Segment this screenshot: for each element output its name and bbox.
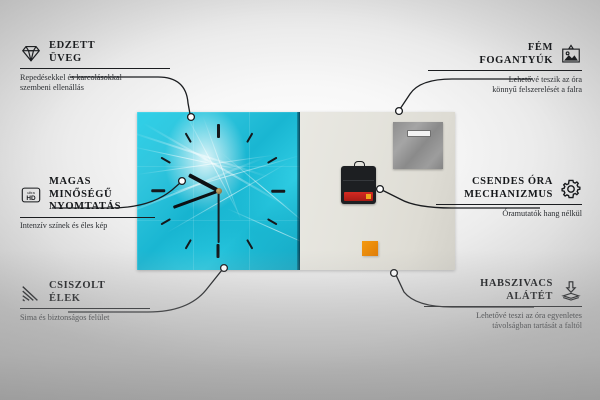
feature-divider: [20, 68, 170, 69]
metal-hanger-bracket: [393, 122, 443, 169]
foam-pad-icon: [560, 280, 582, 302]
feature-title: EDZETT ÜVEG: [49, 40, 95, 65]
feature-silent-movement: CSENDES ÓRA MECHANIZMUS Óramutatók hang …: [436, 176, 582, 219]
feature-title-line2: ÉLEK: [49, 293, 105, 306]
feature-title: FÉM FOGANTYÚK: [479, 42, 553, 67]
quartz-movement: [341, 166, 376, 204]
feature-title: CSISZOLT ÉLEK: [49, 280, 105, 305]
feature-description: Óramutatók hang nélkül: [436, 209, 582, 219]
feature-title-line1: CSENDES ÓRA: [464, 176, 553, 189]
polished-edge-icon: [20, 282, 42, 304]
feature-title: MAGAS MINŐSÉGŰ NYOMTATÁS: [49, 176, 155, 214]
feature-desc-line1: Lehetővé teszi az óra egyenletes: [424, 311, 582, 321]
clock-second-hand: [218, 191, 220, 243]
feature-title-line2: NYOMTATÁS: [49, 201, 155, 214]
feature-desc-line2: távolságban tartását a faltól: [424, 321, 582, 331]
clock-face-front: [137, 112, 300, 270]
clock-back-panel: [300, 112, 455, 270]
feature-title-line1: EDZETT: [49, 40, 95, 53]
feature-desc-line2: könnyű felszerelését a falra: [428, 85, 582, 95]
connector-dot-foam-pad: [391, 270, 398, 277]
feature-foam-pad: HABSZIVACS ALÁTÉT Lehetővé teszi az óra …: [424, 278, 582, 331]
feature-divider: [20, 308, 150, 309]
feature-title-line2: ÜVEG: [49, 53, 95, 66]
feature-title-line2: ALÁTÉT: [480, 291, 553, 304]
foam-pad: [362, 241, 378, 256]
feature-title: CSENDES ÓRA MECHANIZMUS: [464, 176, 553, 201]
svg-text:HD: HD: [26, 195, 36, 202]
feature-desc-line1: Intenzív színek és éles kép: [20, 221, 155, 231]
gear-icon: [560, 178, 582, 200]
feature-desc-line2: szembeni ellenállás: [20, 83, 170, 93]
feature-polished-edges: CSISZOLT ÉLEK Sima és biztonságos felüle…: [20, 280, 150, 323]
clock-tick: [217, 244, 220, 258]
product-image: [137, 112, 455, 270]
feature-divider: [20, 217, 155, 218]
feature-title-line2: FOGANTYÚK: [479, 55, 553, 68]
feature-description: Lehetővé teszi az óra egyenletes távolsá…: [424, 311, 582, 331]
feature-description: Repedésekkel és karcolásokkal szembeni e…: [20, 73, 170, 93]
feature-desc-line1: Óramutatók hang nélkül: [436, 209, 582, 219]
feature-high-quality-print: ultra HD MAGAS MINŐSÉGŰ NYOMTATÁS Intenz…: [20, 176, 155, 231]
feature-divider: [436, 204, 582, 205]
infographic-canvas: EDZETT ÜVEG Repedésekkel és karcolásokka…: [0, 0, 600, 400]
feature-metal-handles: FÉM FOGANTYÚK Lehetővé teszik az óra kön…: [428, 42, 582, 95]
feature-description: Intenzív színek és éles kép: [20, 221, 155, 231]
movement-shaft: [354, 161, 365, 169]
picture-hanger-icon: [560, 44, 582, 66]
feature-title-line1: MAGAS MINŐSÉGŰ: [49, 176, 155, 201]
battery: [344, 192, 373, 201]
feature-desc-line1: Sima és biztonságos felület: [20, 313, 150, 323]
feature-description: Lehetővé teszik az óra könnyű felszerelé…: [428, 75, 582, 95]
feature-divider: [424, 306, 582, 307]
feature-title-line2: MECHANIZMUS: [464, 189, 553, 202]
feature-desc-line1: Lehetővé teszik az óra: [428, 75, 582, 85]
diamond-icon: [20, 42, 42, 64]
clock-tick: [217, 124, 220, 138]
movement-seam: [343, 180, 374, 181]
battery-terminal: [366, 194, 371, 199]
feature-title: HABSZIVACS ALÁTÉT: [480, 278, 553, 303]
clock-tick: [272, 190, 286, 193]
feature-divider: [428, 70, 582, 71]
hanger-slot: [407, 130, 431, 137]
feature-tempered-glass: EDZETT ÜVEG Repedésekkel és karcolásokka…: [20, 40, 170, 93]
ultra-hd-icon: ultra HD: [20, 184, 42, 206]
feature-title-line1: CSISZOLT: [49, 280, 105, 293]
feature-title-line1: FÉM: [479, 42, 553, 55]
feature-desc-line1: Repedésekkel és karcolásokkal: [20, 73, 170, 83]
clock-center-cap: [216, 188, 222, 194]
feature-title-line1: HABSZIVACS: [480, 278, 553, 291]
feature-description: Sima és biztonságos felület: [20, 313, 150, 323]
